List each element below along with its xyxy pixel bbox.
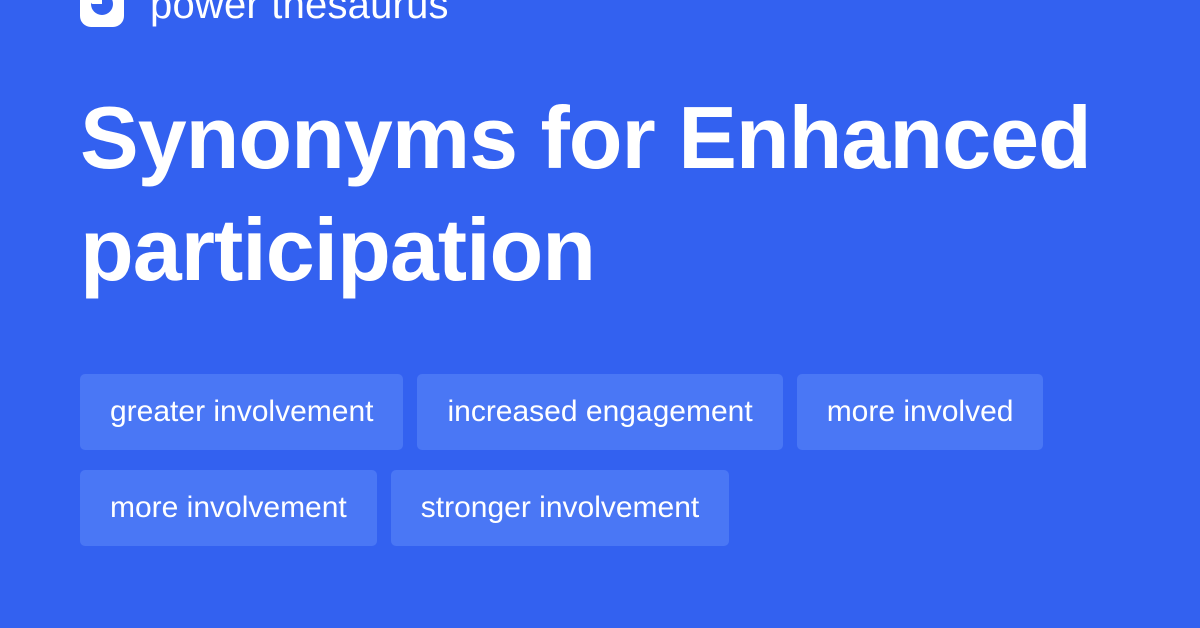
brand-name: power thesaurus: [150, 0, 449, 27]
brand-logo[interactable]: power thesaurus: [80, 0, 449, 28]
synonym-chip[interactable]: more involved: [797, 374, 1044, 450]
synonym-chip[interactable]: increased engagement: [417, 374, 782, 450]
page-title: Synonyms for Enhanced participation: [80, 82, 1120, 306]
power-thesaurus-p-logo-icon: [80, 0, 124, 27]
synonym-chip[interactable]: greater involvement: [80, 374, 403, 450]
synonym-chip-list: greater involvement increased engagement…: [80, 374, 1140, 546]
synonym-chip[interactable]: more involvement: [80, 470, 377, 546]
synonym-chip[interactable]: stronger involvement: [391, 470, 729, 546]
share-card: power thesaurus Synonyms for Enhanced pa…: [0, 0, 1200, 628]
